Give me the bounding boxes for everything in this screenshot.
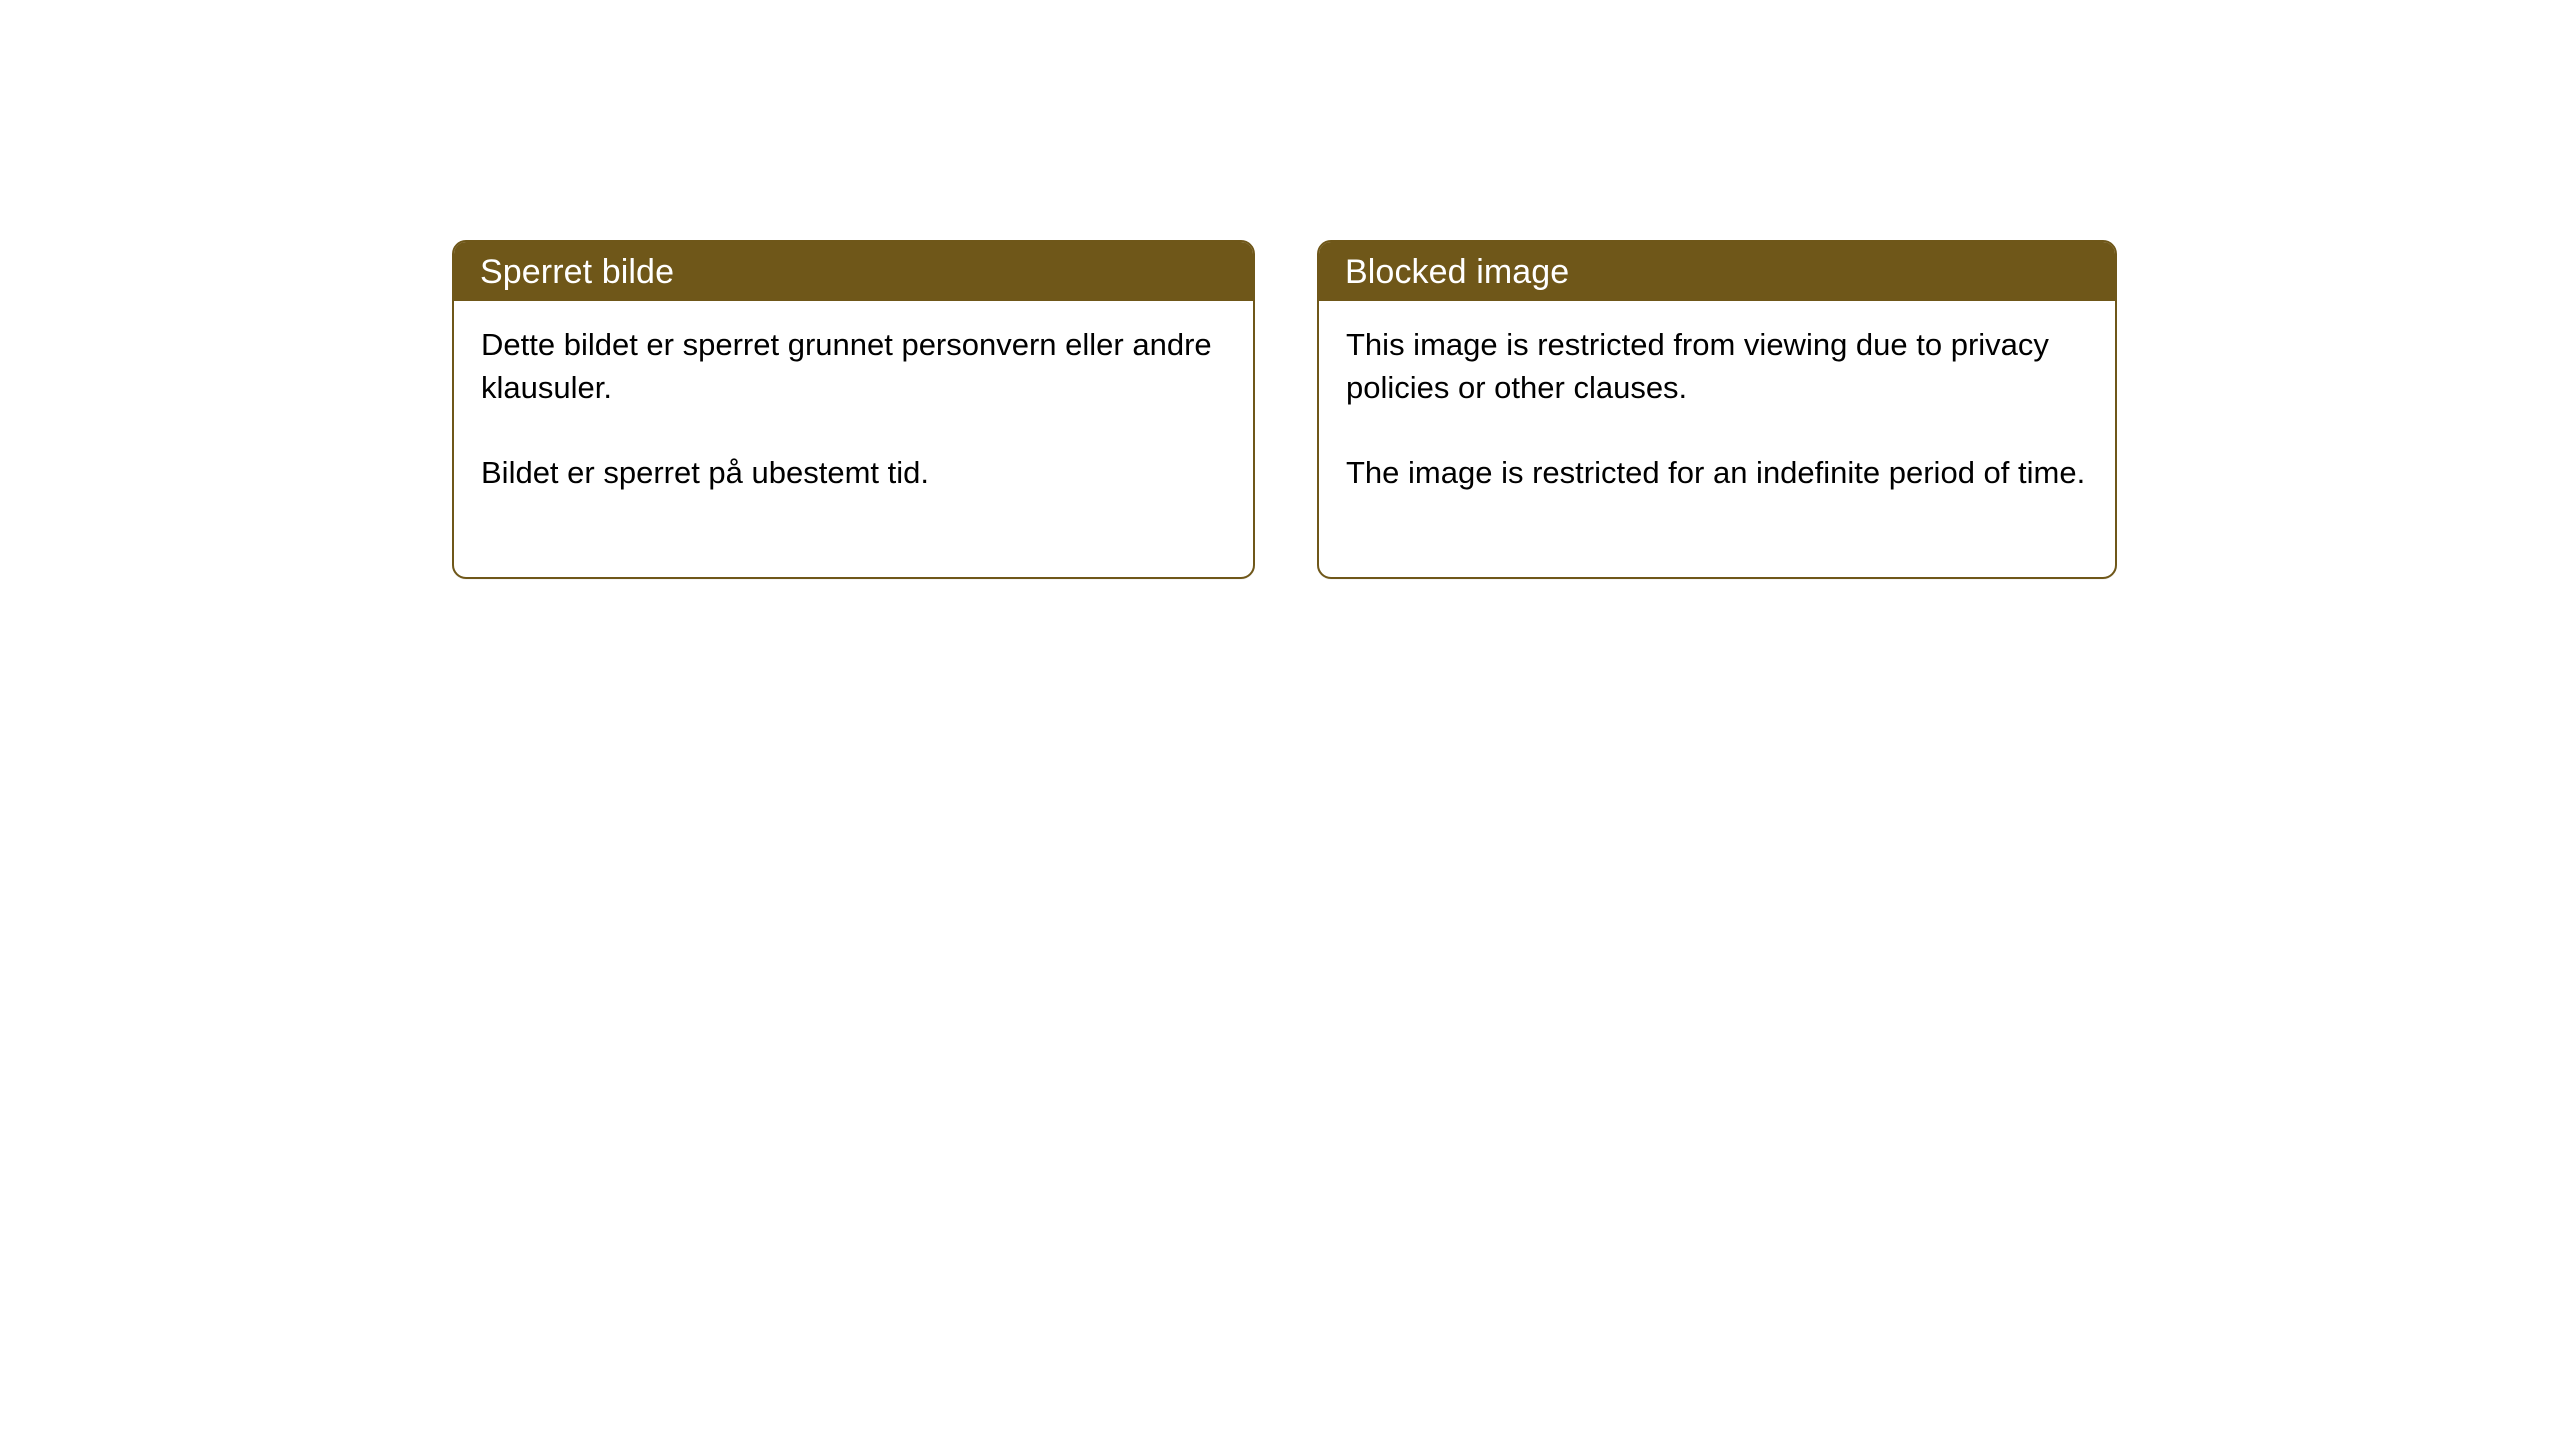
notice-card-paragraph-primary-norwegian: Dette bildet er sperret grunnet personve… [481,323,1227,409]
notice-card-paragraph-primary-english: This image is restricted from viewing du… [1346,323,2089,409]
notice-card-header-english: Blocked image [1319,242,2115,301]
blocked-image-notice-card-english: Blocked image This image is restricted f… [1317,240,2117,579]
blocked-image-notice-card-norwegian: Sperret bilde Dette bildet er sperret gr… [452,240,1255,579]
notice-card-header-norwegian: Sperret bilde [454,242,1253,301]
notice-card-paragraph-secondary-english: The image is restricted for an indefinit… [1346,451,2089,494]
notice-card-paragraph-secondary-norwegian: Bildet er sperret på ubestemt tid. [481,451,1227,494]
notice-card-body-norwegian: Dette bildet er sperret grunnet personve… [454,301,1253,494]
page-canvas: Sperret bilde Dette bildet er sperret gr… [0,0,2560,1440]
notice-card-title-english: Blocked image [1345,255,1569,289]
notice-card-body-english: This image is restricted from viewing du… [1319,301,2115,494]
blocked-image-notice-group: Sperret bilde Dette bildet er sperret gr… [452,240,2117,579]
notice-card-title-norwegian: Sperret bilde [480,255,674,289]
